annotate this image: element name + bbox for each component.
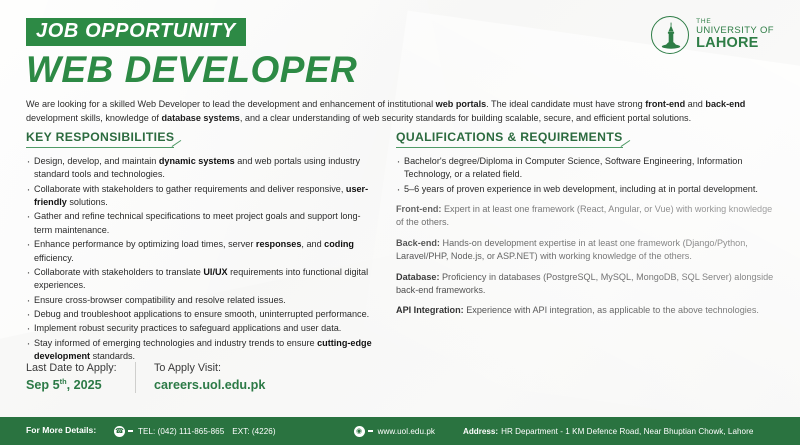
item-text-tail: efficiency. bbox=[34, 253, 74, 263]
globe-icon: ◉ bbox=[354, 426, 365, 437]
intro-text-3: and bbox=[685, 99, 705, 109]
item-bold-2: coding bbox=[324, 239, 354, 249]
footer-address: Address: HR Department - 1 KM Defence Ro… bbox=[463, 427, 753, 436]
item-text: Collaborate with stakeholders to transla… bbox=[34, 267, 203, 277]
job-posting-poster: JOB OPPORTUNITY WEB DEVELOPER We are loo… bbox=[0, 0, 800, 445]
intro-text-5: , and a clear understanding of web secur… bbox=[240, 113, 691, 123]
item-text: Enhance performance by optimizing load t… bbox=[34, 239, 256, 249]
responsibilities-heading: KEY RESPONSIBILITIES bbox=[26, 130, 174, 148]
item-text: Gather and refine technical specificatio… bbox=[34, 211, 361, 234]
list-item: Ensure cross-browser compatibility and r… bbox=[26, 294, 378, 307]
university-logo: THE UNIVERSITY OF LAHORE bbox=[651, 16, 774, 54]
intro-bold-front-end: front-end bbox=[645, 99, 685, 109]
responsibilities-column: KEY RESPONSIBILITIES Design, develop, an… bbox=[26, 128, 378, 350]
content-columns: KEY RESPONSIBILITIES Design, develop, an… bbox=[0, 128, 800, 350]
qualifications-column: QUALIFICATIONS & REQUIREMENTS Bachelor's… bbox=[396, 128, 776, 350]
qualifications-list: Bachelor's degree/Diploma in Computer Sc… bbox=[396, 155, 776, 196]
responsibilities-list: Design, develop, and maintain dynamic sy… bbox=[26, 155, 378, 363]
item-text-mid: , and bbox=[301, 239, 324, 249]
list-item: Debug and troubleshoot applications to e… bbox=[26, 308, 378, 321]
responsibilities-heading-text: KEY RESPONSIBILITIES bbox=[26, 130, 174, 144]
qualification-block-database: Database: Proficiency in databases (Post… bbox=[396, 271, 776, 298]
list-item: Enhance performance by optimizing load t… bbox=[26, 238, 378, 265]
university-logo-text: THE UNIVERSITY OF LAHORE bbox=[696, 19, 774, 50]
intro-text-4: development skills, knowledge of bbox=[26, 113, 161, 123]
qualifications-heading: QUALIFICATIONS & REQUIREMENTS bbox=[396, 130, 623, 148]
item-text-tail: solutions. bbox=[67, 197, 108, 207]
intro-paragraph: We are looking for a skilled Web Develop… bbox=[26, 97, 774, 126]
page-title: WEB DEVELOPER bbox=[26, 51, 776, 89]
deadline-block: Last Date to Apply: Sep 5th, 2025 bbox=[26, 361, 117, 393]
deadline-year: , 2025 bbox=[67, 378, 102, 392]
list-item: Design, develop, and maintain dynamic sy… bbox=[26, 155, 378, 182]
item-text: Collaborate with stakeholders to gather … bbox=[34, 184, 346, 194]
footer-ext-text: EXT: (4226) bbox=[232, 427, 275, 436]
minaret-tower-icon bbox=[651, 16, 689, 54]
block-label: Back-end: bbox=[396, 238, 440, 248]
footer-bar: For More Details: ☎ TEL: (042) 111-865-8… bbox=[0, 417, 800, 445]
footer-website[interactable]: ◉ www.uol.edu.pk bbox=[354, 426, 435, 437]
intro-bold-database-systems: database systems bbox=[161, 113, 239, 123]
logo-line-lahore: LAHORE bbox=[696, 36, 774, 51]
item-text-tail: standards. bbox=[90, 351, 135, 361]
intro-bold-web-portals: web portals bbox=[436, 99, 487, 109]
job-opportunity-badge: JOB OPPORTUNITY bbox=[26, 18, 246, 46]
qualification-block-front-end: Front-end: Expert in at least one framew… bbox=[396, 203, 776, 230]
careers-url[interactable]: careers.uol.edu.pk bbox=[154, 377, 265, 393]
intro-text-2: . The ideal candidate must have strong bbox=[486, 99, 645, 109]
qualification-block-back-end: Back-end: Hands-on development expertise… bbox=[396, 237, 776, 264]
footer-telephone: ☎ TEL: (042) 111-865-865 EXT: (4226) bbox=[114, 426, 276, 437]
list-item: 5–6 years of proven experience in web de… bbox=[396, 183, 776, 196]
deadline-ordinal-suffix: th bbox=[60, 377, 67, 386]
item-text: Ensure cross-browser compatibility and r… bbox=[34, 295, 286, 305]
item-bold: UI/UX bbox=[203, 267, 227, 277]
footer-tel-text: TEL: (042) 111-865-865 bbox=[138, 427, 224, 436]
block-text: Experience with API integration, as appl… bbox=[464, 305, 759, 315]
footer-web-text[interactable]: www.uol.edu.pk bbox=[378, 427, 435, 436]
deadline-value: Sep 5th, 2025 bbox=[26, 377, 117, 394]
item-bold: responses bbox=[256, 239, 302, 249]
item-text: Debug and troubleshoot applications to e… bbox=[34, 309, 369, 319]
block-text: Proficiency in databases (PostgreSQL, My… bbox=[396, 272, 773, 295]
list-item: Implement robust security practices to s… bbox=[26, 322, 378, 335]
list-item: Stay informed of emerging technologies a… bbox=[26, 337, 378, 364]
block-label: API Integration: bbox=[396, 305, 464, 315]
list-item: Gather and refine technical specificatio… bbox=[26, 210, 378, 237]
phone-icon: ☎ bbox=[114, 426, 125, 437]
intro-bold-back-end: back-end bbox=[705, 99, 745, 109]
footer-dash bbox=[368, 430, 373, 431]
block-label: Database: bbox=[396, 272, 439, 282]
list-item: Collaborate with stakeholders to gather … bbox=[26, 183, 378, 210]
item-text: Implement robust security practices to s… bbox=[34, 323, 341, 333]
list-item: Bachelor's degree/Diploma in Computer Sc… bbox=[396, 155, 776, 182]
qualifications-heading-text: QUALIFICATIONS & REQUIREMENTS bbox=[396, 130, 623, 144]
block-text: Hands-on development expertise in at lea… bbox=[396, 238, 748, 261]
footer-address-text: HR Department - 1 KM Defence Road, Near … bbox=[501, 427, 753, 436]
deadline-date: Sep 5 bbox=[26, 378, 60, 392]
block-text: Expert in at least one framework (React,… bbox=[396, 204, 772, 227]
item-bold: dynamic systems bbox=[159, 156, 235, 166]
qualification-block-api-integration: API Integration: Experience with API int… bbox=[396, 304, 776, 317]
apply-divider bbox=[135, 362, 136, 393]
footer-address-label: Address: bbox=[463, 427, 498, 436]
intro-text-1: We are looking for a skilled Web Develop… bbox=[26, 99, 436, 109]
visit-block: To Apply Visit: careers.uol.edu.pk bbox=[154, 361, 265, 393]
block-label: Front-end: bbox=[396, 204, 441, 214]
footer-more-details-label: For More Details: bbox=[26, 426, 100, 436]
item-text: Stay informed of emerging technologies a… bbox=[34, 338, 317, 348]
item-text: Design, develop, and maintain bbox=[34, 156, 159, 166]
list-item: Collaborate with stakeholders to transla… bbox=[26, 266, 378, 293]
footer-dash bbox=[128, 430, 133, 431]
poster-header: JOB OPPORTUNITY WEB DEVELOPER We are loo… bbox=[0, 0, 800, 128]
